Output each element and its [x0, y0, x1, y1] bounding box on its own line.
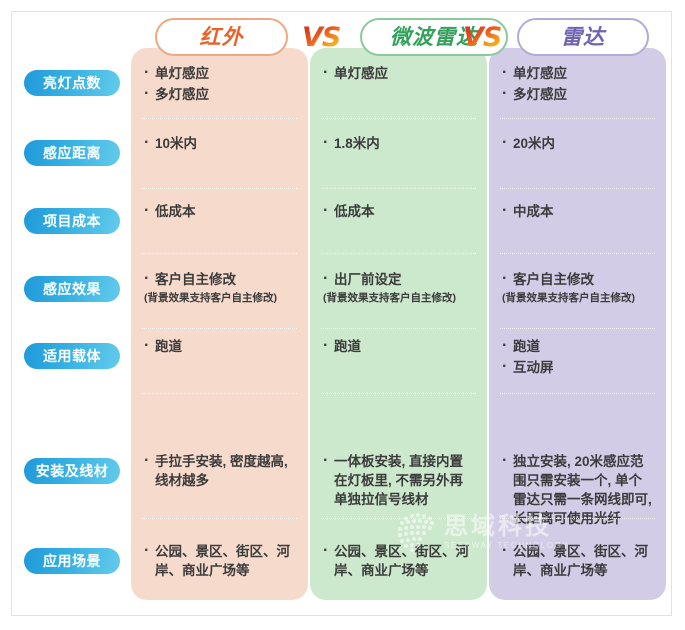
cell-note: (背景效果支持客户自主修改): [143, 291, 295, 305]
table-cell: 客户自主修改(背景效果支持客户自主修改): [501, 270, 653, 305]
row-divider: [142, 118, 297, 119]
cell-bullet: 出厂前设定: [322, 270, 474, 289]
row-divider: [321, 328, 476, 329]
comparison-grid: 亮灯点数单灯感应多灯感应单灯感应单灯感应多灯感应感应距离10米内1.8米内20米…: [0, 48, 685, 600]
row-divider: [500, 518, 655, 519]
cell-note: (背景效果支持客户自主修改): [501, 291, 653, 305]
cell-bullet: 跑道: [322, 337, 474, 356]
table-cell: 公园、景区、街区、河岸、商业广场等: [322, 542, 474, 582]
tech-pill-label: 雷达: [561, 27, 605, 48]
table-cell: 跑道互动屏: [501, 337, 653, 379]
row-divider: [321, 188, 476, 189]
table-cell: 单灯感应多灯感应: [501, 64, 653, 106]
table-cell: 单灯感应多灯感应: [143, 64, 295, 106]
table-cell: 公园、景区、街区、河岸、商业广场等: [143, 542, 295, 582]
row-label-4: 适用载体: [24, 343, 120, 369]
row-label-3: 感应效果: [24, 276, 120, 302]
cell-bullet: 中成本: [501, 202, 653, 221]
row-divider: [500, 253, 655, 254]
cell-bullet: 手拉手安装, 密度越高, 线材越多: [143, 452, 295, 490]
row-label-text: 适用载体: [43, 349, 101, 363]
vs-separator-2: VS: [463, 22, 501, 53]
table-cell: 1.8米内: [322, 134, 474, 155]
vs-separator-1: VS: [302, 22, 340, 53]
row-divider: [500, 328, 655, 329]
tech-pill-label: 红外: [200, 27, 244, 48]
cell-note: (背景效果支持客户自主修改): [322, 291, 474, 305]
table-cell: 出厂前设定(背景效果支持客户自主修改): [322, 270, 474, 305]
cell-bullet: 多灯感应: [143, 85, 295, 104]
cell-bullet: 单灯感应: [501, 64, 653, 83]
table-cell: 手拉手安装, 密度越高, 线材越多: [143, 452, 295, 492]
table-cell: 客户自主修改(背景效果支持客户自主修改): [143, 270, 295, 305]
row-divider: [142, 393, 297, 394]
row-divider: [500, 188, 655, 189]
row-label-2: 项目成本: [24, 208, 120, 234]
row-label-text: 项目成本: [43, 214, 101, 228]
row-divider: [142, 518, 297, 519]
row-label-text: 亮灯点数: [43, 76, 101, 90]
row-label-text: 感应距离: [43, 146, 101, 160]
table-cell: 20米内: [501, 134, 653, 155]
table-cell: 一体板安装, 直接内置在灯板里, 不需另外再单独拉信号线材: [322, 452, 474, 511]
row-label-text: 应用场景: [43, 554, 101, 568]
row-label-text: 安装及线材: [36, 464, 109, 478]
row-divider: [500, 118, 655, 119]
cell-bullet: 单灯感应: [322, 64, 474, 83]
cell-bullet: 独立安装, 20米感应范围只需安装一个, 单个雷达只需一条网线即可, 长距离可使…: [501, 452, 653, 528]
cell-bullet: 1.8米内: [322, 134, 474, 153]
tech-pill-radar: 雷达: [517, 18, 649, 56]
row-divider: [500, 393, 655, 394]
cell-bullet: 客户自主修改: [143, 270, 295, 289]
table-cell: 低成本: [322, 202, 474, 223]
cell-bullet: 公园、景区、街区、河岸、商业广场等: [143, 542, 295, 580]
cell-bullet: 跑道: [501, 337, 653, 356]
table-cell: 跑道: [322, 337, 474, 358]
cell-bullet: 跑道: [143, 337, 295, 356]
row-label-6: 应用场景: [24, 548, 120, 574]
tech-pill-infrared: 红外: [155, 18, 288, 56]
header-row: 红外 VS 微波雷达 VS 雷达: [127, 18, 672, 60]
table-cell: 跑道: [143, 337, 295, 358]
cell-bullet: 公园、景区、街区、河岸、商业广场等: [322, 542, 474, 580]
cell-bullet: 低成本: [322, 202, 474, 221]
row-divider: [142, 328, 297, 329]
row-divider: [142, 253, 297, 254]
table-cell: 公园、景区、街区、河岸、商业广场等: [501, 542, 653, 582]
cell-bullet: 公园、景区、街区、河岸、商业广场等: [501, 542, 653, 580]
row-label-0: 亮灯点数: [24, 70, 120, 96]
cell-bullet: 互动屏: [501, 358, 653, 377]
row-label-text: 感应效果: [43, 282, 101, 296]
table-cell: 中成本: [501, 202, 653, 223]
cell-bullet: 20米内: [501, 134, 653, 153]
cell-bullet: 低成本: [143, 202, 295, 221]
row-divider: [142, 188, 297, 189]
row-divider: [321, 118, 476, 119]
table-cell: 低成本: [143, 202, 295, 223]
cell-bullet: 多灯感应: [501, 85, 653, 104]
cell-bullet: 客户自主修改: [501, 270, 653, 289]
cell-bullet: 10米内: [143, 134, 295, 153]
table-cell: 10米内: [143, 134, 295, 155]
table-cell: 单灯感应: [322, 64, 474, 85]
row-divider: [321, 393, 476, 394]
row-label-5: 安装及线材: [24, 458, 120, 484]
row-divider: [321, 253, 476, 254]
row-divider: [321, 518, 476, 519]
cell-bullet: 一体板安装, 直接内置在灯板里, 不需另外再单独拉信号线材: [322, 452, 474, 509]
row-label-1: 感应距离: [24, 140, 120, 166]
comparison-infographic: 红外 VS 微波雷达 VS 雷达 亮灯点数单灯感应多灯感应单灯感应单灯感应多灯感…: [0, 0, 685, 630]
cell-bullet: 单灯感应: [143, 64, 295, 83]
